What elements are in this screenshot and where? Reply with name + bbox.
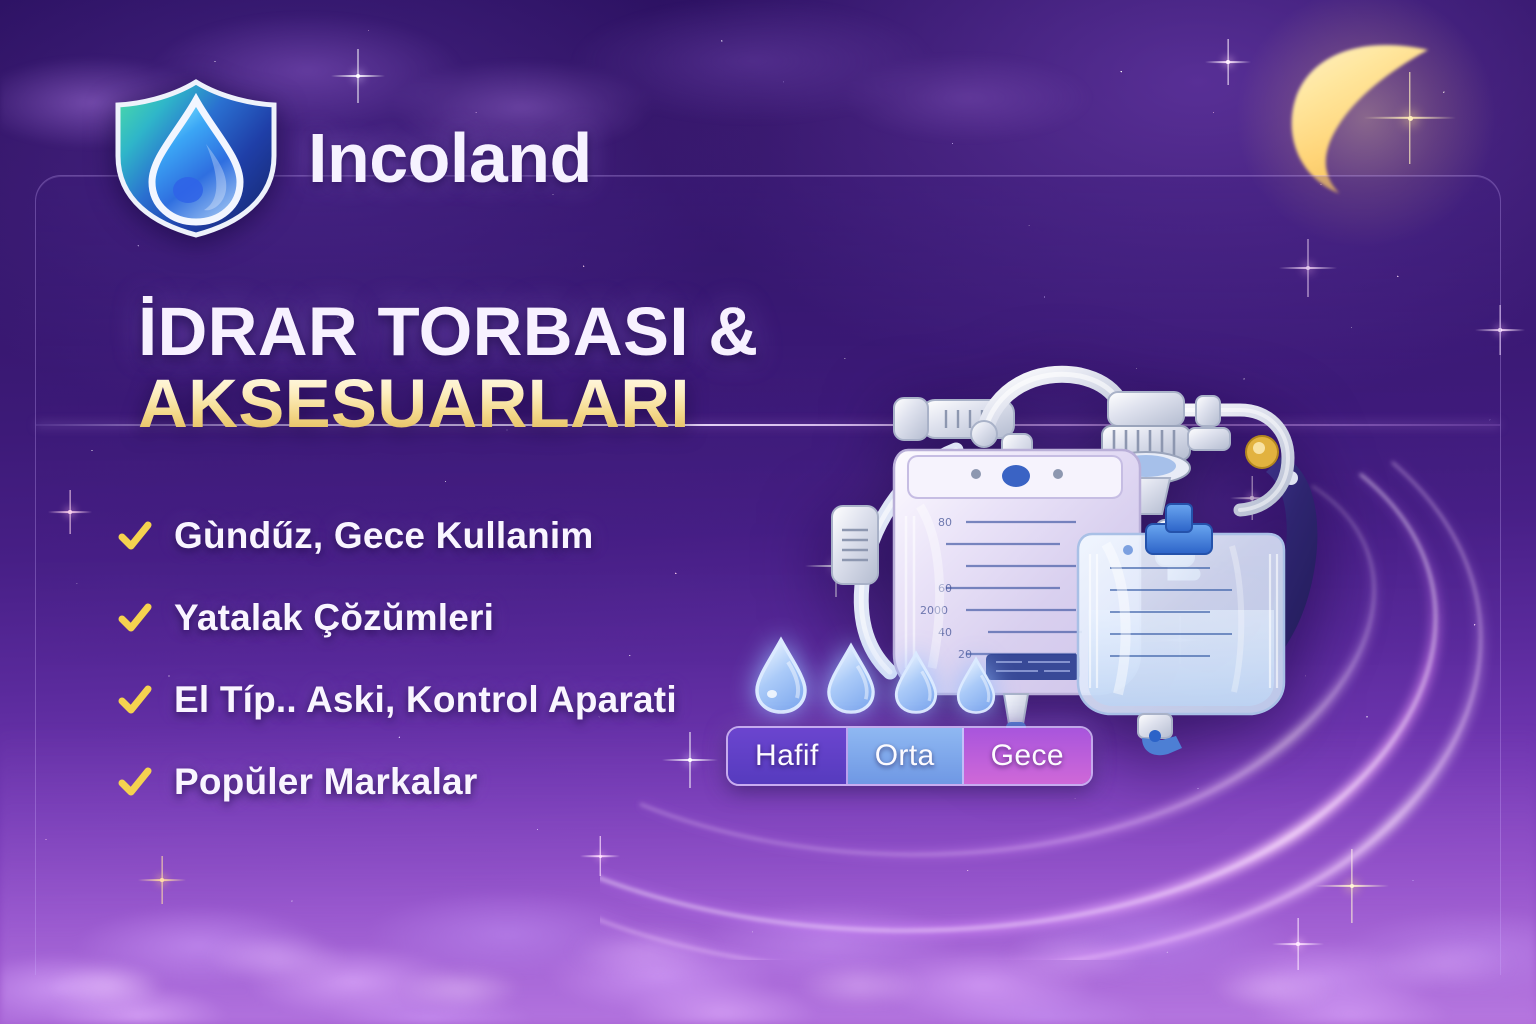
- svg-text:80: 80: [938, 516, 952, 529]
- headline-line-1: İDRAR TORBASI &: [138, 296, 758, 368]
- list-item: Yatalak Çŏzŭmleri: [118, 577, 677, 659]
- list-item: El Típ.. Aski, Kontrol Aparati: [118, 659, 677, 741]
- feature-label: Yatalak Çŏzŭmleri: [174, 597, 494, 639]
- check-icon: [118, 519, 152, 553]
- absorbency-droplets: [752, 636, 998, 714]
- brand-logo[interactable]: Incoland: [108, 78, 592, 238]
- list-item: Gùndűz, Gece Kullanim: [118, 495, 677, 577]
- headline-line-2: AKSESUARLARI: [138, 368, 758, 440]
- check-icon: [118, 765, 152, 799]
- level-option-orta[interactable]: Orta: [848, 728, 964, 784]
- water-drop-icon: [954, 656, 998, 714]
- level-option-hafif[interactable]: Hafif: [728, 728, 848, 784]
- water-drop-icon: [824, 642, 878, 714]
- list-item: Popŭler Markalar: [118, 741, 677, 823]
- promo-banner: Incoland İDRAR TORBASI & AKSESUARLARI Gù…: [0, 0, 1536, 1024]
- level-option-gece[interactable]: Gece: [964, 728, 1091, 784]
- feature-list: Gùndűz, Gece Kullanim Yatalak Çŏzŭmleri …: [118, 495, 677, 823]
- water-drop-icon: [752, 636, 810, 714]
- check-icon: [118, 601, 152, 635]
- page-title: İDRAR TORBASI & AKSESUARLARI: [138, 296, 758, 440]
- feature-label: Popŭler Markalar: [174, 761, 477, 803]
- feature-label: Gùndűz, Gece Kullanim: [174, 515, 593, 557]
- secondary-drainage-bag: [1078, 504, 1284, 755]
- absorbency-level-selector[interactable]: Hafif Orta Gece: [726, 726, 1093, 786]
- water-drop-icon: [892, 650, 940, 714]
- check-icon: [118, 683, 152, 717]
- shield-waterdrop-icon: [108, 78, 284, 238]
- feature-label: El Típ.. Aski, Kontrol Aparati: [174, 679, 677, 721]
- brand-name: Incoland: [308, 118, 592, 198]
